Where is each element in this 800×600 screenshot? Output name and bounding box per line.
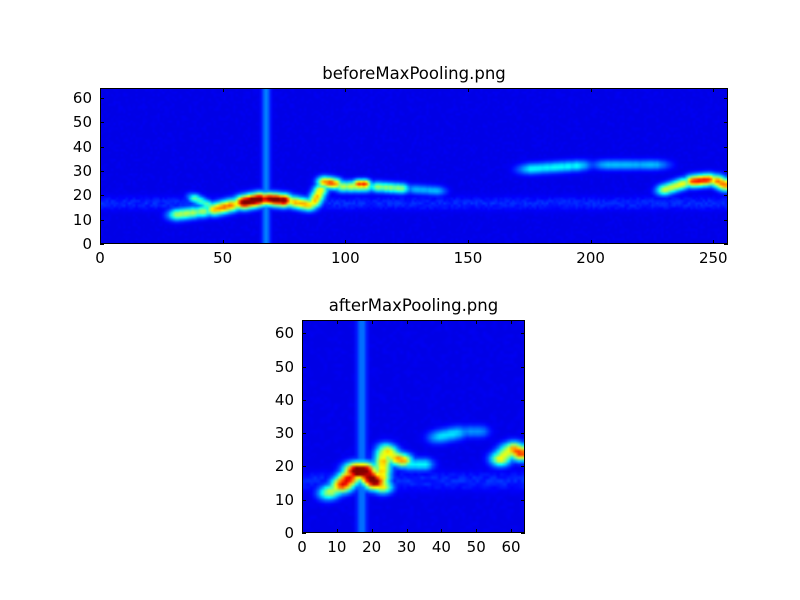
- x-tick-label: 50: [467, 538, 486, 556]
- y-tick-label: 10: [52, 211, 92, 229]
- y-tick-mark: [302, 533, 306, 534]
- x-tick-label: 60: [502, 538, 521, 556]
- y-tick-mark: [302, 333, 306, 334]
- y-tick-label: 50: [254, 358, 294, 376]
- y-tick-label: 30: [52, 162, 92, 180]
- x-tick-label: 200: [576, 249, 605, 267]
- y-tick-mark-right: [521, 533, 525, 534]
- x-tick-mark: [713, 240, 714, 244]
- y-tick-label: 0: [52, 235, 92, 253]
- x-tick-label: 150: [454, 249, 483, 267]
- y-tick-mark-right: [724, 171, 728, 172]
- y-tick-mark: [100, 195, 104, 196]
- y-tick-mark: [302, 367, 306, 368]
- x-tick-mark: [345, 240, 346, 244]
- y-tick-mark-right: [521, 333, 525, 334]
- heatmap-image-after: [303, 321, 524, 532]
- x-tick-mark-top: [511, 320, 512, 324]
- y-tick-label: 30: [254, 424, 294, 442]
- x-tick-mark: [511, 529, 512, 533]
- y-tick-mark: [302, 466, 306, 467]
- x-tick-label: 0: [95, 249, 105, 267]
- x-tick-label: 20: [362, 538, 381, 556]
- y-tick-label: 60: [52, 89, 92, 107]
- x-tick-mark-top: [713, 88, 714, 92]
- x-tick-mark-top: [100, 88, 101, 92]
- y-tick-mark-right: [724, 220, 728, 221]
- heatmap-image-before: [101, 89, 727, 243]
- x-tick-mark-top: [345, 88, 346, 92]
- y-tick-label: 50: [52, 113, 92, 131]
- y-tick-mark: [302, 400, 306, 401]
- y-tick-mark: [302, 500, 306, 501]
- x-tick-mark-top: [441, 320, 442, 324]
- x-tick-mark: [223, 240, 224, 244]
- x-tick-mark-top: [468, 88, 469, 92]
- matplotlib-figure: beforeMaxPooling.png 0501001502002500102…: [0, 0, 800, 600]
- y-tick-label: 40: [52, 138, 92, 156]
- x-tick-label: 0: [297, 538, 307, 556]
- x-tick-label: 10: [327, 538, 346, 556]
- x-tick-mark-top: [302, 320, 303, 324]
- x-tick-label: 100: [331, 249, 360, 267]
- x-tick-mark: [468, 240, 469, 244]
- y-tick-mark: [100, 98, 104, 99]
- y-tick-mark-right: [521, 500, 525, 501]
- y-tick-mark-right: [521, 367, 525, 368]
- heatmap-axes-after: [302, 320, 525, 533]
- x-tick-mark: [441, 529, 442, 533]
- y-tick-label: 20: [52, 186, 92, 204]
- x-tick-mark-top: [591, 88, 592, 92]
- heatmap-axes-before: [100, 88, 728, 244]
- x-tick-label: 30: [397, 538, 416, 556]
- chart-title-after: afterMaxPooling.png: [302, 296, 525, 315]
- y-tick-mark: [100, 171, 104, 172]
- x-tick-label: 250: [699, 249, 728, 267]
- y-tick-mark-right: [521, 400, 525, 401]
- y-tick-mark: [100, 122, 104, 123]
- y-tick-mark: [100, 147, 104, 148]
- x-tick-mark-top: [337, 320, 338, 324]
- chart-title-before: beforeMaxPooling.png: [100, 64, 728, 83]
- x-tick-mark-top: [372, 320, 373, 324]
- x-tick-mark: [407, 529, 408, 533]
- x-tick-label: 40: [432, 538, 451, 556]
- y-tick-mark-right: [724, 147, 728, 148]
- x-tick-mark: [372, 529, 373, 533]
- x-tick-label: 50: [213, 249, 232, 267]
- x-tick-mark-top: [407, 320, 408, 324]
- y-tick-mark-right: [724, 244, 728, 245]
- y-tick-mark: [302, 433, 306, 434]
- x-tick-mark: [476, 529, 477, 533]
- y-tick-mark-right: [724, 122, 728, 123]
- y-tick-mark: [100, 244, 104, 245]
- y-tick-mark-right: [521, 466, 525, 467]
- x-tick-mark-top: [476, 320, 477, 324]
- x-tick-mark: [591, 240, 592, 244]
- y-tick-mark-right: [724, 195, 728, 196]
- y-tick-mark: [100, 220, 104, 221]
- y-tick-label: 10: [254, 491, 294, 509]
- y-tick-mark-right: [724, 98, 728, 99]
- y-tick-mark-right: [521, 433, 525, 434]
- y-tick-label: 40: [254, 391, 294, 409]
- y-tick-label: 20: [254, 457, 294, 475]
- y-tick-label: 0: [254, 524, 294, 542]
- y-tick-label: 60: [254, 324, 294, 342]
- x-tick-mark: [337, 529, 338, 533]
- x-tick-mark-top: [223, 88, 224, 92]
